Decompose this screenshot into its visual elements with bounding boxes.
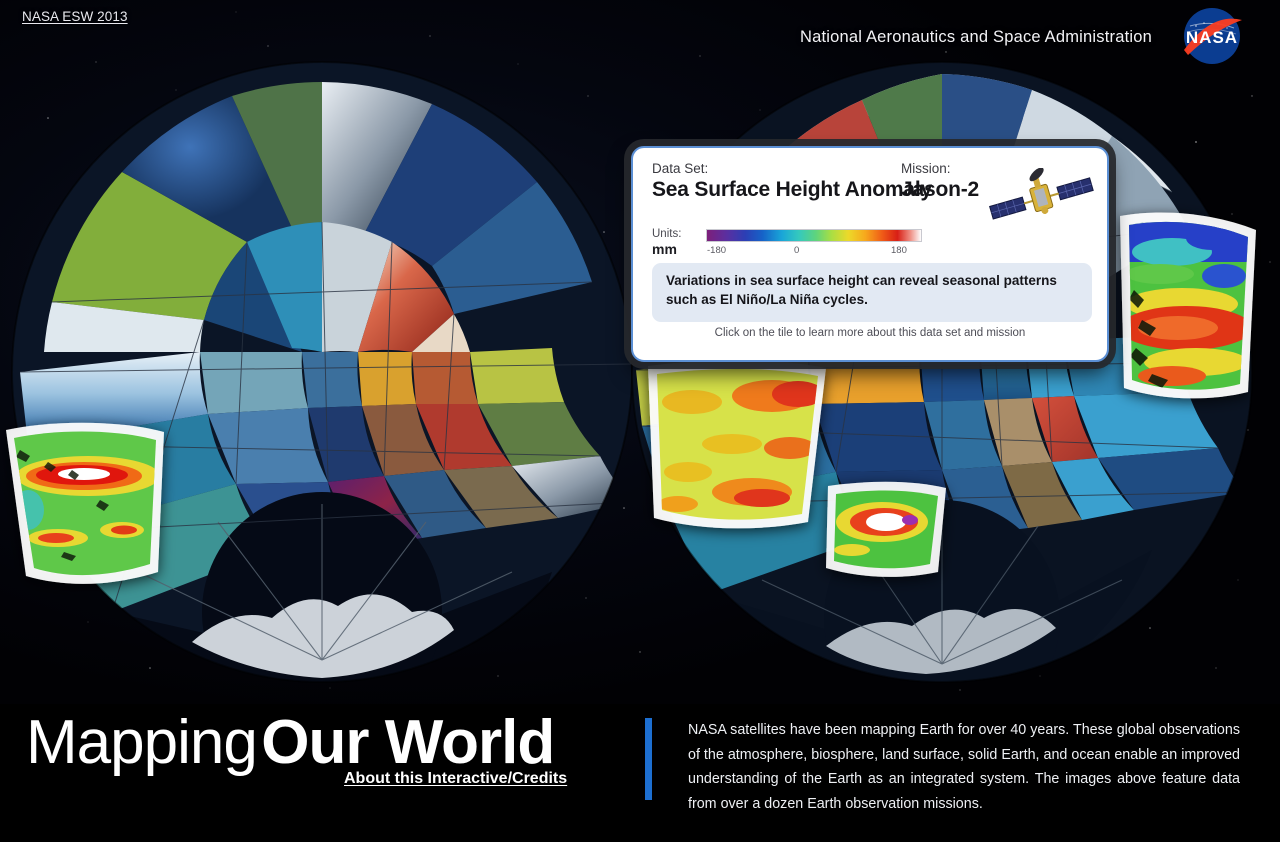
units-label: Units: [652, 228, 681, 240]
page-title: Mapping Our World [26, 712, 626, 774]
bottom-bar: Mapping Our World About this Interactive… [0, 704, 1280, 842]
callout-box: Variations in sea surface height can rev… [652, 263, 1092, 322]
vertical-divider [645, 718, 652, 800]
globe-western-hemisphere[interactable] [0, 52, 652, 692]
title-block: Mapping Our World [26, 712, 626, 774]
esw-link[interactable]: NASA ESW 2013 [22, 9, 128, 24]
nasa-logo-icon: NASA [1166, 6, 1258, 66]
colorbar-tick-min: -180 [707, 245, 726, 256]
data-set-label: Data Set: [652, 161, 932, 177]
callout-text: Variations in sea surface height can rev… [666, 272, 1078, 309]
colorbar-tick-max: 180 [891, 245, 907, 256]
colorbar-tick-mid: 0 [794, 245, 799, 256]
description-paragraph: NASA satellites have been mapping Earth … [688, 718, 1240, 816]
data-set-block: Data Set: Sea Surface Height Anomaly [652, 161, 932, 202]
mission-value: Jason-2 [901, 177, 979, 202]
mission-label: Mission: [901, 161, 979, 177]
title-light: Mapping [26, 708, 257, 777]
tile-ssh-pacific-left[interactable] [6, 423, 170, 584]
satellite-icon [985, 168, 1097, 226]
globe-tiles-left [12, 62, 632, 692]
panel-footer-hint: Click on the tile to learn more about th… [633, 327, 1107, 339]
title-bold: Our World [261, 708, 554, 777]
tile-ssh-indonesia-right[interactable] [1112, 210, 1268, 402]
agency-title: National Aeronautics and Space Administr… [800, 28, 1152, 47]
units-value: mm [652, 241, 677, 257]
colorbar [706, 229, 922, 242]
mission-block: Mission: Jason-2 [901, 161, 979, 202]
info-panel[interactable]: Data Set: Sea Surface Height Anomaly Mis… [631, 146, 1109, 362]
tile-ssh-equatorial[interactable] [822, 480, 954, 580]
units-row: Units: mm -180 0 180 [652, 228, 1092, 264]
page-header: NASA ESW 2013 National Aeronautics and S… [0, 0, 1280, 70]
nasa-logo-text: NASA [1186, 28, 1238, 47]
credits-link[interactable]: About this Interactive/Credits [344, 770, 567, 788]
data-set-value: Sea Surface Height Anomaly [652, 177, 932, 202]
